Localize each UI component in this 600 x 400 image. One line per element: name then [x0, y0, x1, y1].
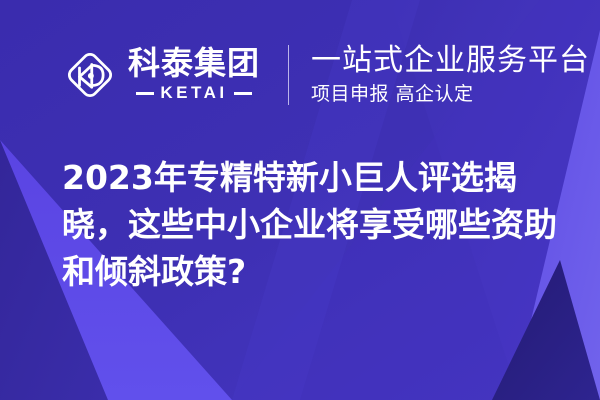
- tagline-secondary: 项目申报 高企认定: [311, 83, 590, 106]
- brand-name-en: KETAI: [160, 83, 227, 103]
- page-title: 2023年专精特新小巨人评选揭晓，这些中小企业将享受哪些资助和倾斜政策?: [62, 155, 558, 296]
- header-divider: [288, 45, 289, 105]
- brand-logo: 科泰集团 KETAI: [62, 47, 260, 104]
- ketai-diamond-k-logo-icon: [62, 47, 118, 103]
- dash-right-icon: [234, 92, 252, 95]
- tagline-block: 一站式企业服务平台 项目申报 高企认定: [311, 44, 590, 106]
- brand-name-cn: 科泰集团: [128, 47, 260, 81]
- brand-name-en-row: KETAI: [128, 83, 260, 103]
- brand-wordmark: 科泰集团 KETAI: [128, 47, 260, 104]
- tagline-primary: 一站式企业服务平台: [311, 44, 590, 78]
- promo-banner: 科泰集团 KETAI 一站式企业服务平台 项目申报 高企认定 2023年专精特新…: [0, 0, 600, 400]
- dash-left-icon: [136, 92, 154, 95]
- banner-header: 科泰集团 KETAI 一站式企业服务平台 项目申报 高企认定: [0, 0, 600, 150]
